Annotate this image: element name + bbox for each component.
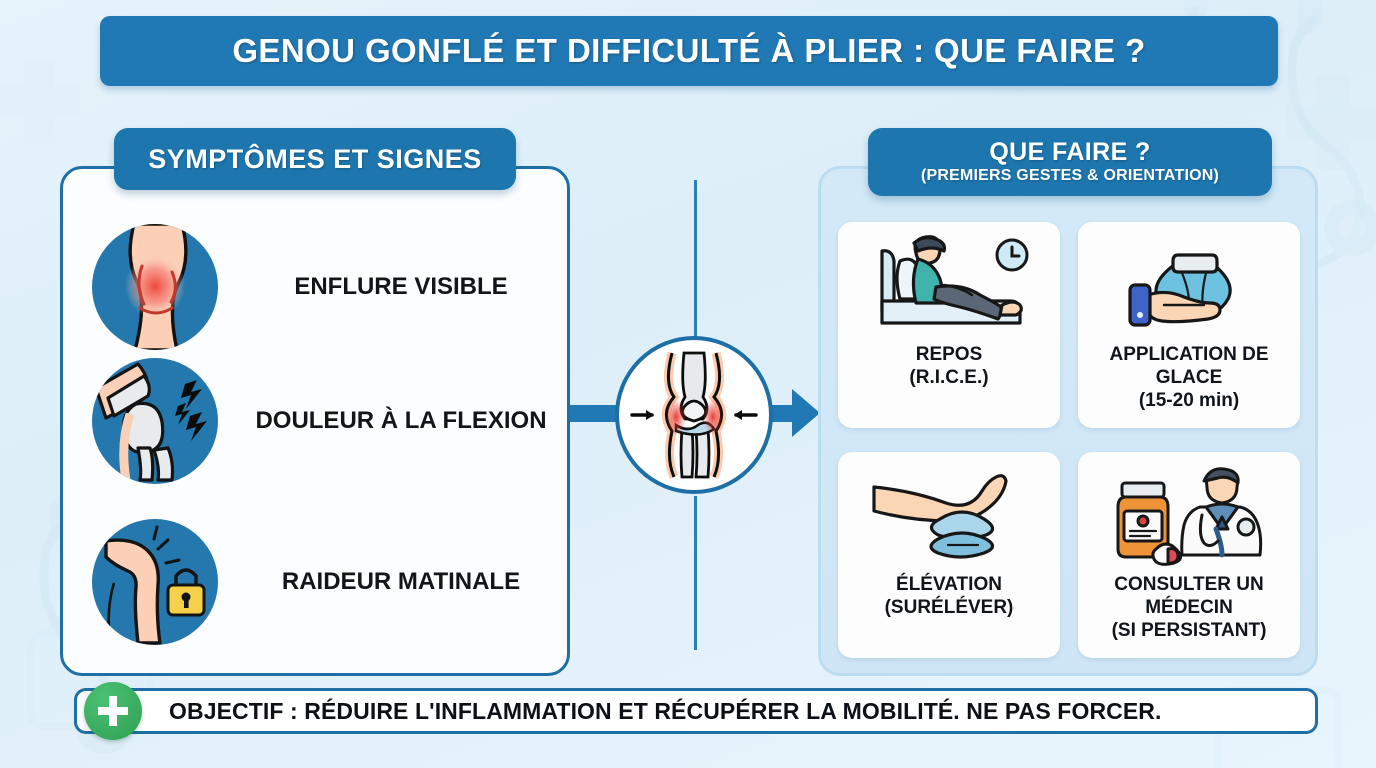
symptoms-heading-text: SYMPTÔMES ET SIGNES <box>148 144 482 175</box>
ice-pack-hand-icon <box>1104 232 1274 344</box>
objective-bar: OBJECTIF : RÉDUIRE L'INFLAMMATION ET RÉC… <box>74 688 1318 734</box>
action-card-elevation[interactable]: ÉLÉVATION (SURÉLÉVER) <box>838 452 1060 658</box>
symptom-label: ENFLURE VISIBLE <box>246 272 556 302</box>
symptom-label: DOULEUR À LA FLEXION <box>246 406 556 436</box>
action-card-label-line1: APPLICATION DE GLACE <box>1078 344 1300 390</box>
action-card-label-line1: CONSULTER UN MÉDECIN <box>1078 574 1300 620</box>
vertical-divider-top <box>694 180 697 346</box>
green-cross-icon <box>84 682 142 740</box>
objective-text: OBJECTIF : RÉDUIRE L'INFLAMMATION ET RÉC… <box>169 698 1162 725</box>
swollen-knee-icon <box>92 224 218 350</box>
knee-joint-compression-icon <box>615 336 773 494</box>
actions-panel-heading: QUE FAIRE ? (PREMIERS GESTES & ORIENTATI… <box>868 128 1272 196</box>
leg-elevation-pillow-icon <box>864 462 1034 574</box>
doctor-medication-icon <box>1104 462 1274 574</box>
symptom-label: RAIDEUR MATINALE <box>246 567 556 597</box>
action-card-label-line2: (SURÉLÉVER) <box>879 597 1020 620</box>
action-card-label-line2: (15-20 min) <box>1133 390 1245 413</box>
symptom-row-douleur-flexion: DOULEUR À LA FLEXION <box>92 358 556 484</box>
connector-arrowhead-icon <box>792 389 820 437</box>
action-card-repos[interactable]: REPOS (R.I.C.E.) <box>838 222 1060 428</box>
action-card-label-line1: ÉLÉVATION <box>890 574 1008 597</box>
action-card-glace[interactable]: APPLICATION DE GLACE (15-20 min) <box>1078 222 1300 428</box>
symptoms-panel-heading: SYMPTÔMES ET SIGNES <box>114 128 516 190</box>
page-title-bar: GENOU GONFLÉ ET DIFFICULTÉ À PLIER : QUE… <box>100 16 1278 86</box>
action-card-label-line1: REPOS <box>910 344 989 367</box>
person-resting-icon <box>864 232 1034 344</box>
page-title: GENOU GONFLÉ ET DIFFICULTÉ À PLIER : QUE… <box>232 32 1145 70</box>
action-card-label-line2: (R.I.C.E.) <box>903 367 994 390</box>
symptom-row-enflure-visible: ENFLURE VISIBLE <box>92 224 556 350</box>
actions-heading-text: QUE FAIRE ? <box>989 139 1150 165</box>
symptom-row-raideur-matinale: RAIDEUR MATINALE <box>92 519 556 645</box>
stiff-leg-lock-icon <box>92 519 218 645</box>
action-card-label-line2: (SI PERSISTANT) <box>1106 620 1273 643</box>
vertical-divider-bottom <box>694 496 697 650</box>
knee-joint-pain-icon <box>92 358 218 484</box>
action-card-consulter-medecin[interactable]: CONSULTER UN MÉDECIN (SI PERSISTANT) <box>1078 452 1300 658</box>
infographic-canvas: GENOU GONFLÉ ET DIFFICULTÉ À PLIER : QUE… <box>0 0 1376 768</box>
actions-subheading-text: (PREMIERS GESTES & ORIENTATION) <box>921 167 1219 185</box>
